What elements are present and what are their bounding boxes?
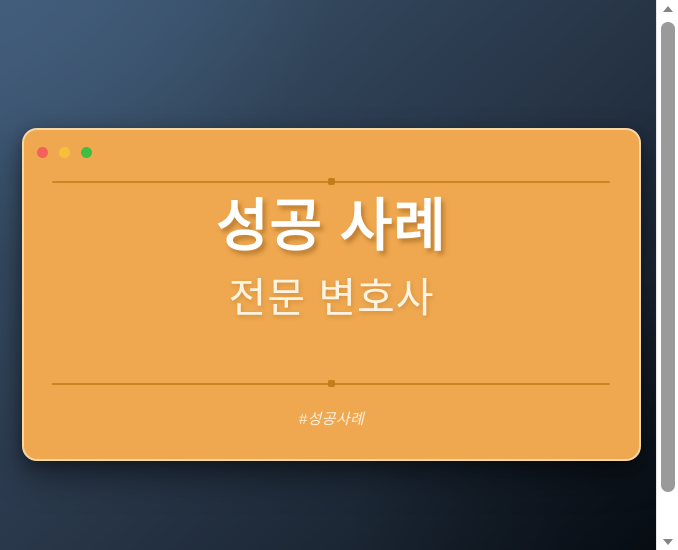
triangle-up-icon	[663, 6, 673, 12]
headline-block: 성공 사례 전문 변호사	[22, 195, 641, 322]
page-title: 성공 사례	[22, 195, 641, 259]
maximize-window-icon[interactable]	[81, 147, 92, 158]
scroll-down-arrow-icon[interactable]	[657, 533, 678, 550]
page-subtitle: 전문 변호사	[22, 275, 641, 322]
hashtag-label: #성공사례	[22, 408, 641, 429]
content-viewport: 성공 사례 전문 변호사 #성공사례	[0, 0, 656, 550]
window-controls	[37, 147, 92, 158]
minimize-window-icon[interactable]	[59, 147, 70, 158]
close-window-icon[interactable]	[37, 147, 48, 158]
triangle-down-icon	[663, 539, 673, 545]
app-root: 성공 사례 전문 변호사 #성공사례	[0, 0, 678, 550]
divider-bottom	[52, 379, 610, 388]
scrollbar-thumb[interactable]	[661, 22, 675, 492]
scroll-up-arrow-icon[interactable]	[657, 0, 678, 17]
divider-top	[52, 177, 610, 186]
divider-node-icon	[328, 380, 335, 387]
vertical-scrollbar[interactable]	[656, 0, 678, 550]
divider-node-icon	[328, 178, 335, 185]
